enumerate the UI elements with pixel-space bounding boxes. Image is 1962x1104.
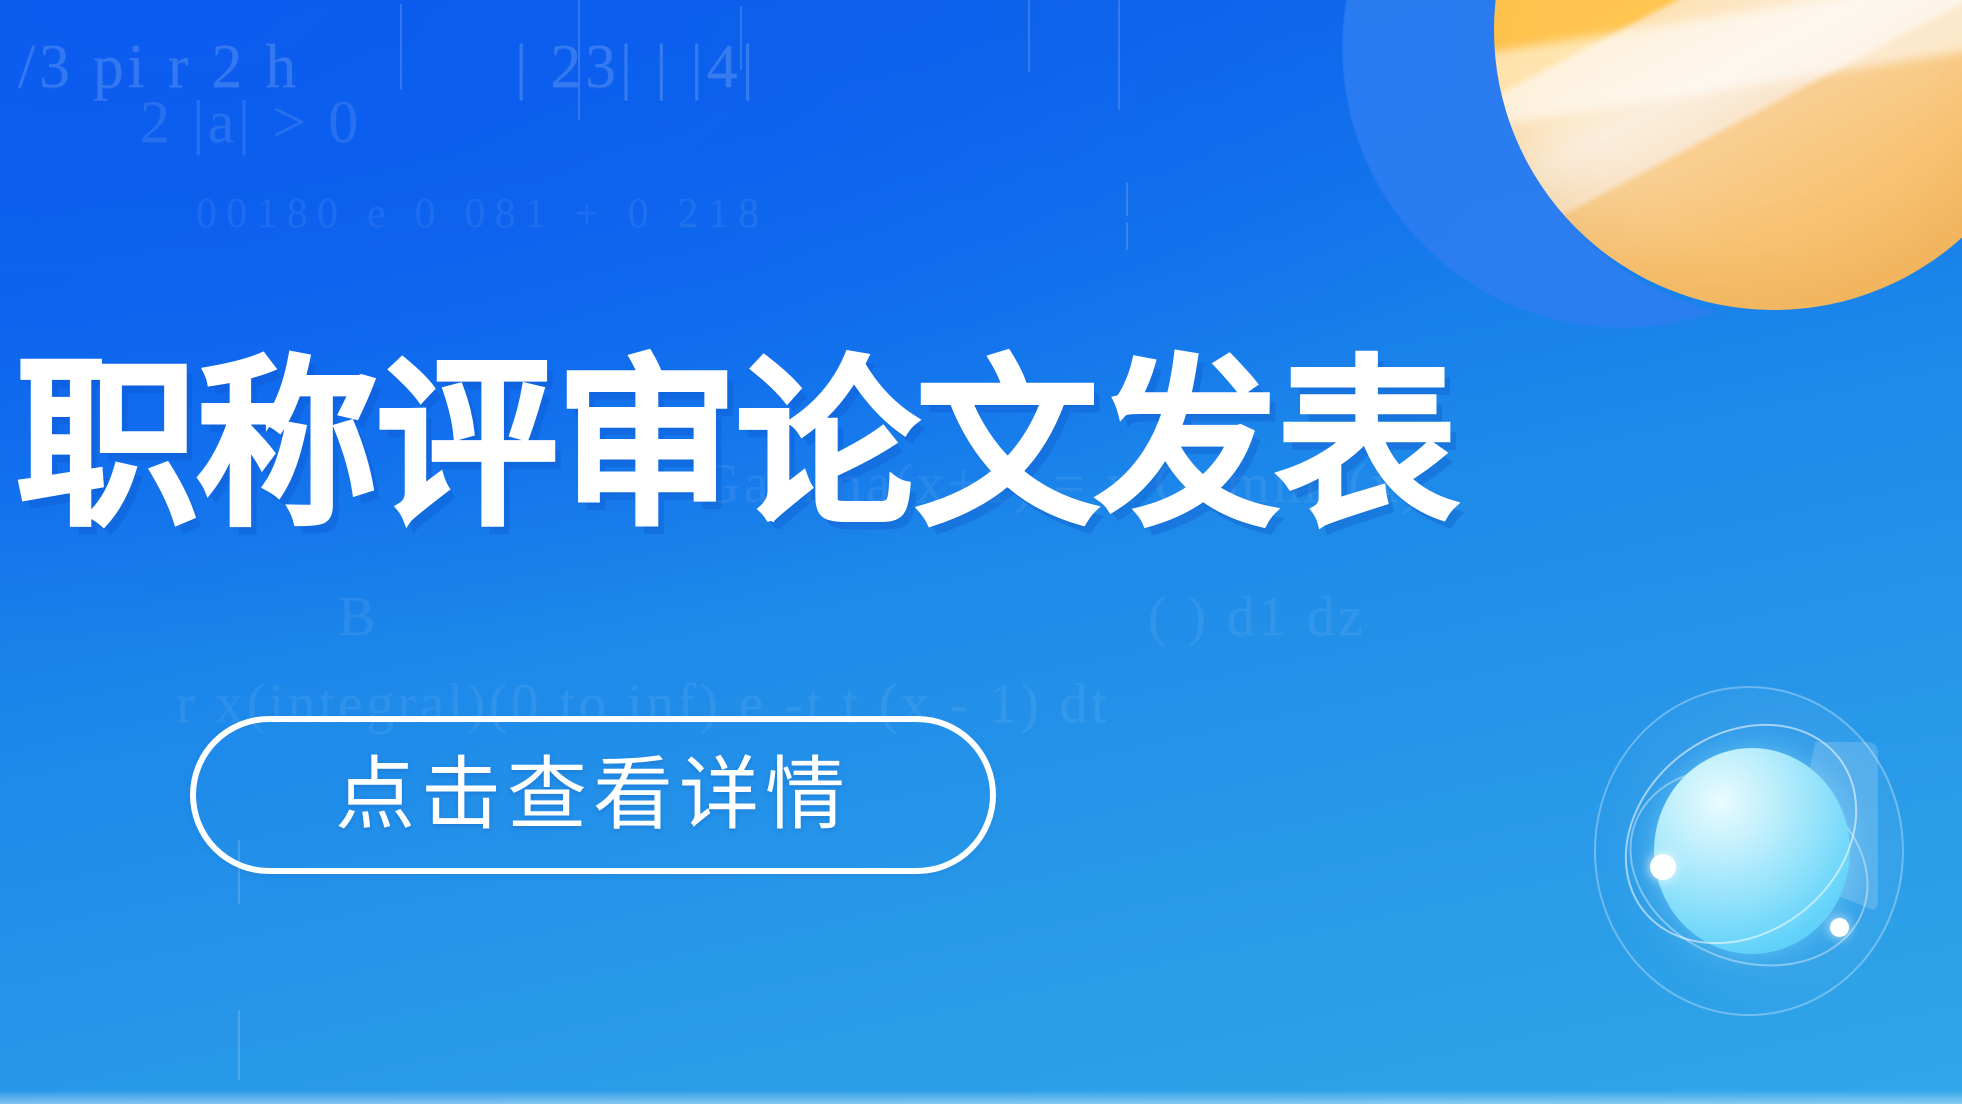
atom-core-icon [1654, 748, 1850, 954]
atom-halo-icon [1594, 686, 1904, 1016]
view-details-button[interactable]: 点击查看详情 [190, 716, 996, 874]
atom-wedge-icon [1786, 742, 1878, 912]
decor-tick [400, 4, 402, 90]
background-math-watermark: /3 pi r 2 h | 23| | |4| 2 |a| > 0 00180 … [0, 0, 1962, 1104]
decor-tick [1126, 222, 1128, 250]
math-watermark-line: 2 |a| > 0 [140, 88, 362, 157]
electron-dot-icon [1830, 918, 1849, 937]
math-watermark-line: | 23| | |4| [515, 32, 757, 103]
decor-tick [238, 1010, 240, 1080]
math-watermark-line: 00180 e 0 081 + 0 218 [196, 190, 768, 238]
atom-orbit-icon [1599, 733, 1898, 1001]
planet-band-icon [1494, 0, 1962, 310]
planet-sphere-icon [1494, 0, 1962, 310]
promo-banner: /3 pi r 2 h | 23| | |4| 2 |a| > 0 00180 … [0, 0, 1962, 1104]
view-details-button-label: 点击查看详情 [335, 755, 851, 835]
math-watermark-line: B [338, 585, 379, 649]
math-watermark-line: /3 pi r 2 h [18, 32, 300, 103]
decor-tick [1126, 182, 1128, 216]
electron-dot-icon [1650, 854, 1676, 880]
bottom-glow [0, 1090, 1962, 1104]
planet-decoration [1434, 0, 1962, 370]
atom-orbit-icon [1581, 678, 1901, 990]
crescent-shape-icon [1342, 0, 1902, 328]
page-title: 职称评审论文发表 [16, 354, 1416, 536]
decor-tick [1118, 0, 1120, 110]
math-watermark-line: ( ) d1 dz [1148, 585, 1366, 649]
atom-decoration [1594, 686, 1904, 1016]
decor-tick [740, 6, 742, 70]
decor-tick [578, 0, 580, 120]
decor-tick [1028, 0, 1030, 72]
